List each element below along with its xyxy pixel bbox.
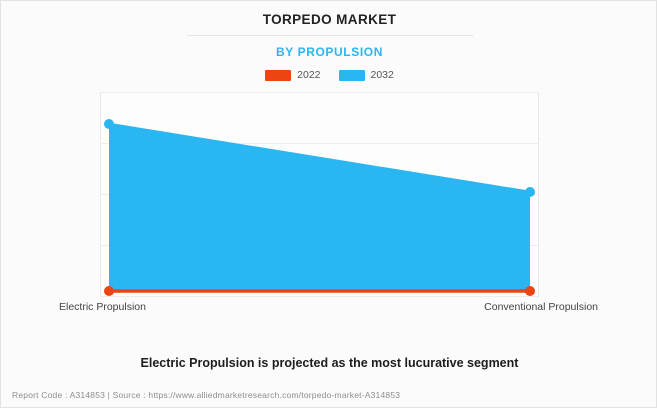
series-2022-marker-conventional <box>525 286 535 296</box>
legend-item-2032[interactable]: 2032 <box>339 69 394 81</box>
chart-caption: Electric Propulsion is projected as the … <box>1 356 657 370</box>
x-axis-label-electric-propulsion: Electric Propulsion <box>59 301 146 313</box>
chart-page: TORPEDO MARKET BY PROPULSION 2022 2032 <box>0 0 657 408</box>
footer-source: Report Code : A314853 | Source : https:/… <box>12 390 400 400</box>
chart-series-svg <box>100 92 539 297</box>
legend-label-2032: 2032 <box>371 69 394 81</box>
title-divider <box>187 35 473 36</box>
legend-label-2022: 2022 <box>297 69 320 81</box>
chart-legend: 2022 2032 <box>1 69 657 81</box>
legend-swatch-2022 <box>265 70 291 81</box>
legend-swatch-2032 <box>339 70 365 81</box>
chart-plot-area <box>100 92 539 297</box>
legend-item-2022[interactable]: 2022 <box>265 69 320 81</box>
series-2032-marker-electric <box>104 119 114 129</box>
page-title: TORPEDO MARKET <box>1 12 657 27</box>
x-axis-labels: Electric Propulsion Conventional Propuls… <box>1 301 657 317</box>
x-axis-label-conventional-propulsion: Conventional Propulsion <box>484 301 598 313</box>
chart-subtitle: BY PROPULSION <box>1 45 657 59</box>
series-2022-marker-electric <box>104 286 114 296</box>
series-2032-marker-conventional <box>525 187 535 197</box>
series-2032-area <box>109 124 530 291</box>
